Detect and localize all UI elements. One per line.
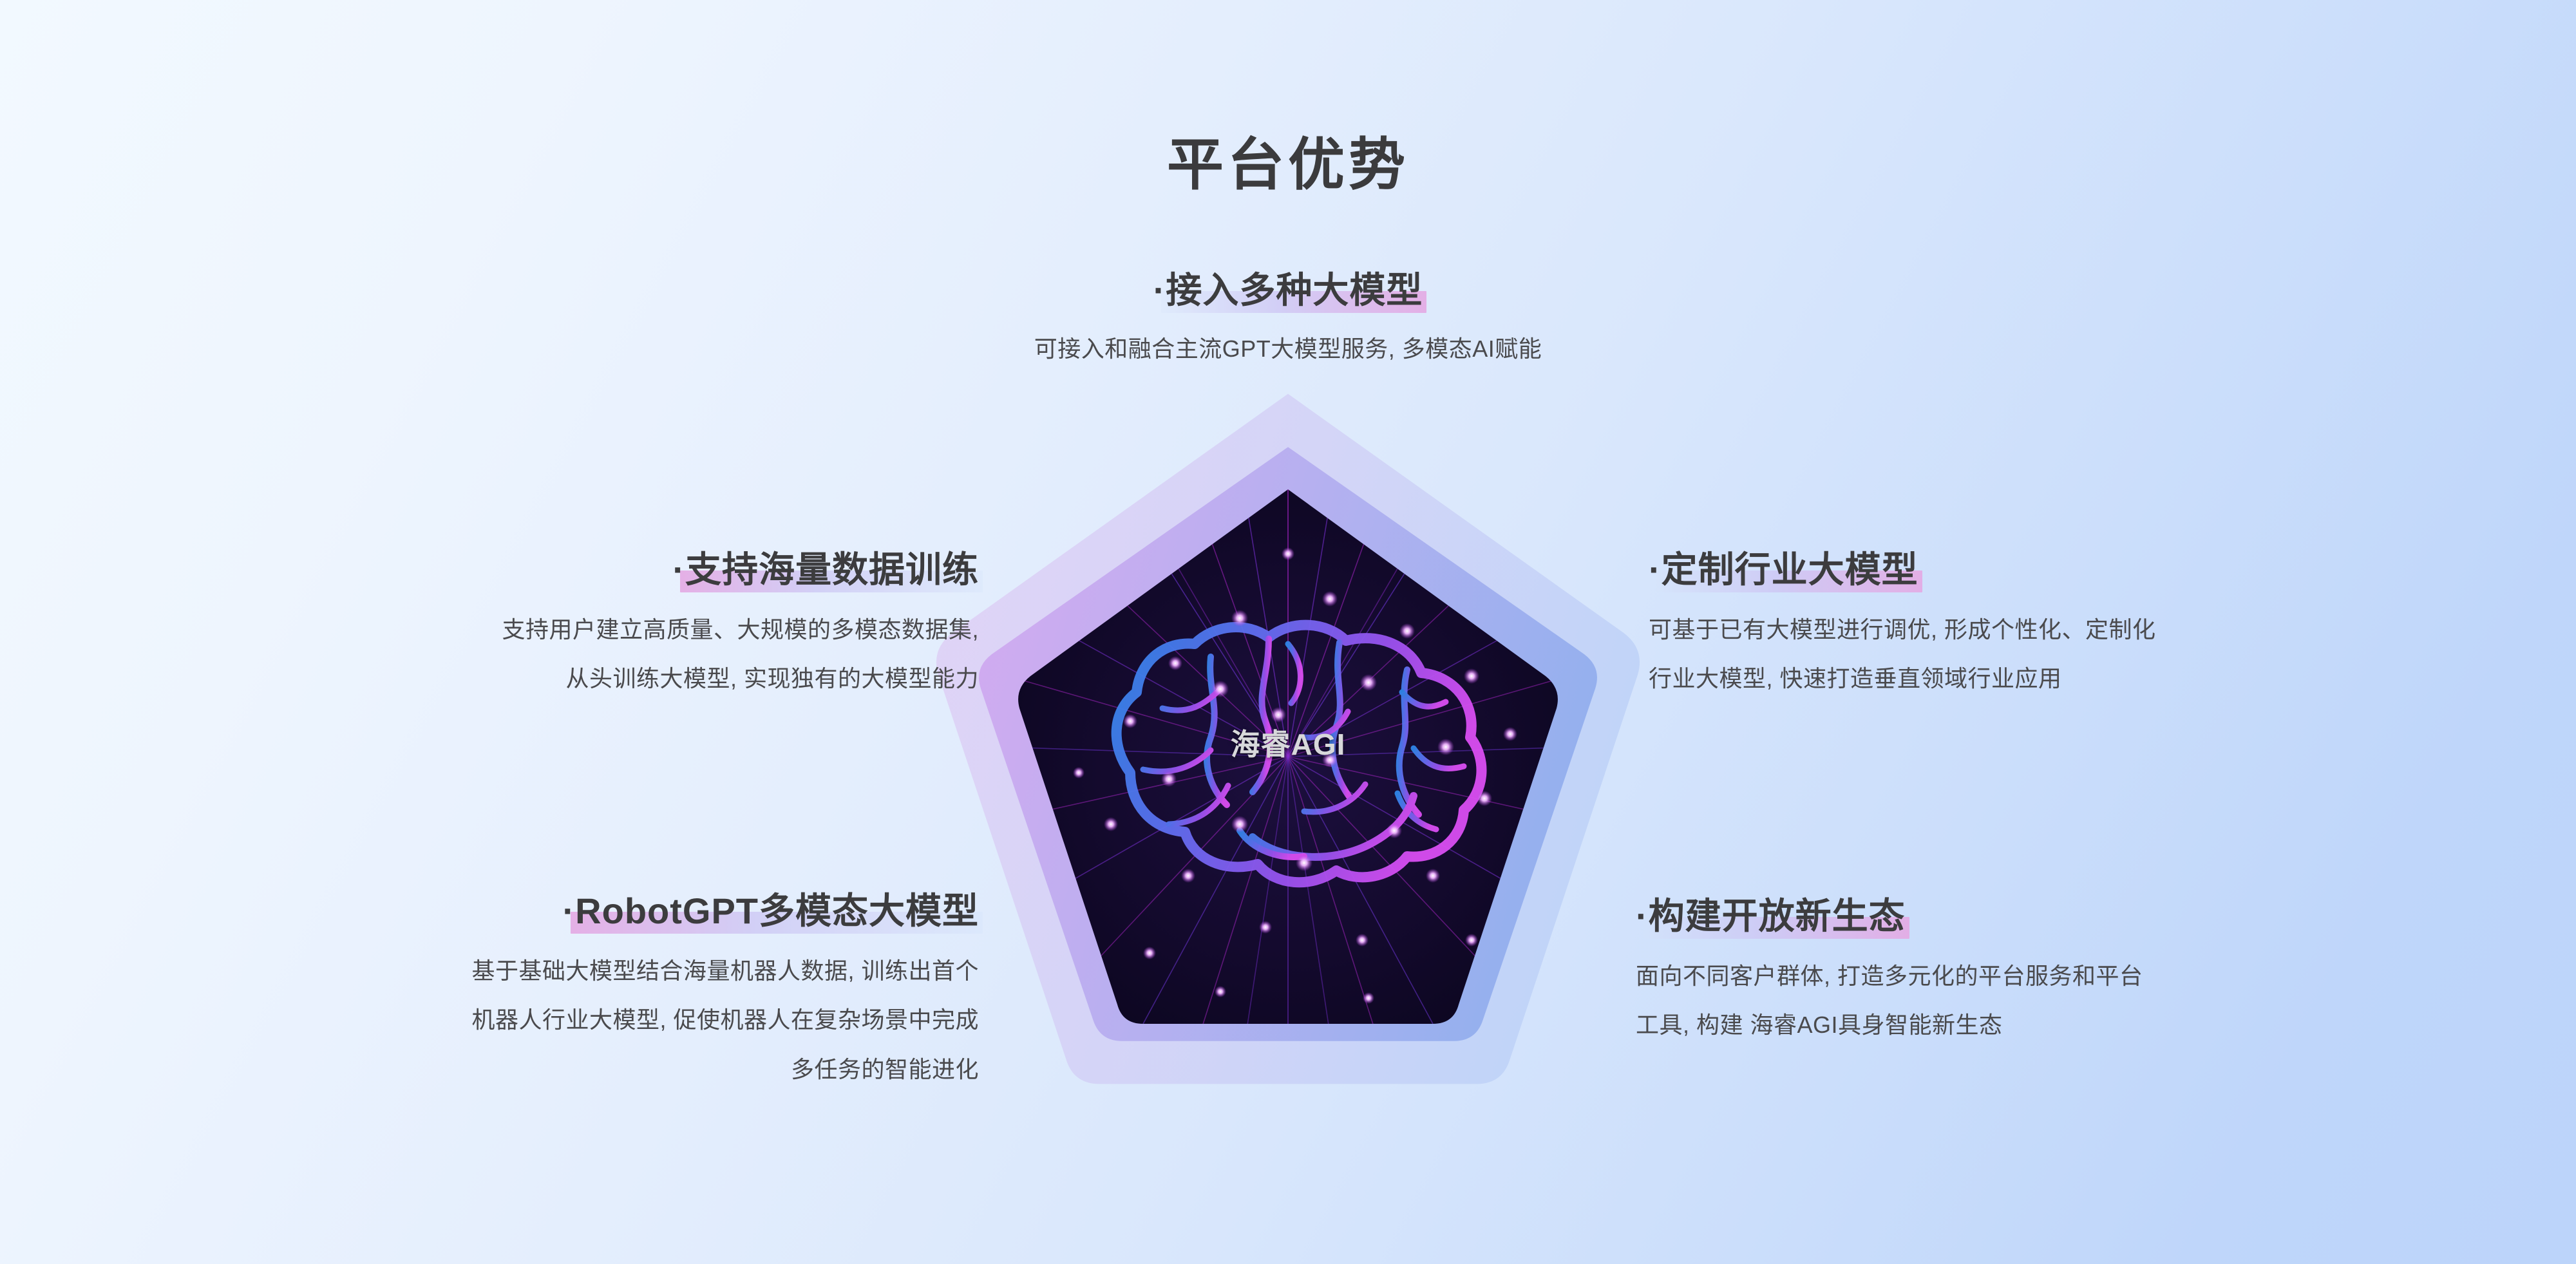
feature-title-right-bottom: ·构建开放新生态 [1636, 895, 1906, 938]
feature-block-right-top: ·定制行业大模型 可基于已有大模型进行调优, 形成个性化、定制化 行业大模型, … [1649, 549, 2499, 704]
feature-title-text: 接入多种大模型 [1166, 270, 1423, 310]
feature-description-right-bottom: 面向不同客户群体, 打造多元化的平台服务和平台 工具, 构建 海睿AGI具身智能… [1636, 952, 2492, 1050]
desc-line: 可接入和融合主流GPT大模型服务, 多模态AI赋能 [708, 325, 1868, 373]
desc-line: 从头训练大模型, 实现独有的大模型能力 [148, 654, 979, 703]
desc-line: 可基于已有大模型进行调优, 形成个性化、定制化 [1649, 605, 2499, 654]
desc-line: 基于基础大模型结合海量机器人数据, 训练出首个 [135, 947, 979, 995]
feature-bullet: · [1649, 549, 1662, 590]
feature-block-right-bottom: ·构建开放新生态 面向不同客户群体, 打造多元化的平台服务和平台 工具, 构建 … [1636, 895, 2492, 1050]
feature-description-left-top: 支持用户建立高质量、大规模的多模态数据集, 从头训练大模型, 实现独有的大模型能… [148, 605, 979, 704]
feature-description-top: 可接入和融合主流GPT大模型服务, 多模态AI赋能 [708, 325, 1868, 373]
desc-line: 工具, 构建 海睿AGI具身智能新生态 [1636, 1001, 2492, 1050]
feature-title-text: 定制行业大模型 [1662, 549, 1918, 590]
feature-bullet: · [563, 891, 576, 931]
feature-title-text: RobotGPT多模态大模型 [575, 891, 979, 931]
feature-block-left-top: ·支持海量数据训练 支持用户建立高质量、大规模的多模态数据集, 从头训练大模型,… [148, 549, 979, 704]
desc-line: 支持用户建立高质量、大规模的多模态数据集, [148, 605, 979, 654]
desc-line: 面向不同客户群体, 打造多元化的平台服务和平台 [1636, 952, 2492, 1001]
feature-description-right-top: 可基于已有大模型进行调优, 形成个性化、定制化 行业大模型, 快速打造垂直领域行… [1649, 605, 2499, 704]
feature-bullet: · [1153, 270, 1166, 310]
feature-bullet: · [672, 549, 685, 590]
feature-title-top: ·接入多种大模型 [1153, 269, 1423, 312]
feature-block-top: ·接入多种大模型 可接入和融合主流GPT大模型服务, 多模态AI赋能 [708, 269, 1868, 373]
center-pentagon-graphic: 海睿AGI [918, 386, 1658, 1095]
platform-advantages-infographic: 平台优势 [0, 0, 2576, 1264]
feature-title-text: 构建开放新生态 [1649, 896, 1906, 936]
feature-block-left-bottom: ·RobotGPT多模态大模型 基于基础大模型结合海量机器人数据, 训练出首个 … [135, 890, 979, 1094]
feature-bullet: · [1636, 896, 1649, 936]
page-title: 平台优势 [0, 119, 2576, 201]
feature-description-left-bottom: 基于基础大模型结合海量机器人数据, 训练出首个 机器人行业大模型, 促使机器人在… [135, 947, 979, 1094]
center-brand-label: 海睿AGI [918, 721, 1658, 764]
desc-line: 行业大模型, 快速打造垂直领域行业应用 [1649, 654, 2499, 703]
feature-title-text: 支持海量数据训练 [685, 549, 979, 590]
desc-line: 机器人行业大模型, 促使机器人在复杂场景中完成 [135, 995, 979, 1044]
feature-title-right-top: ·定制行业大模型 [1649, 549, 1918, 591]
feature-title-left-top: ·支持海量数据训练 [672, 549, 979, 591]
desc-line: 多任务的智能进化 [135, 1045, 979, 1094]
feature-title-left-bottom: ·RobotGPT多模态大模型 [563, 890, 979, 932]
